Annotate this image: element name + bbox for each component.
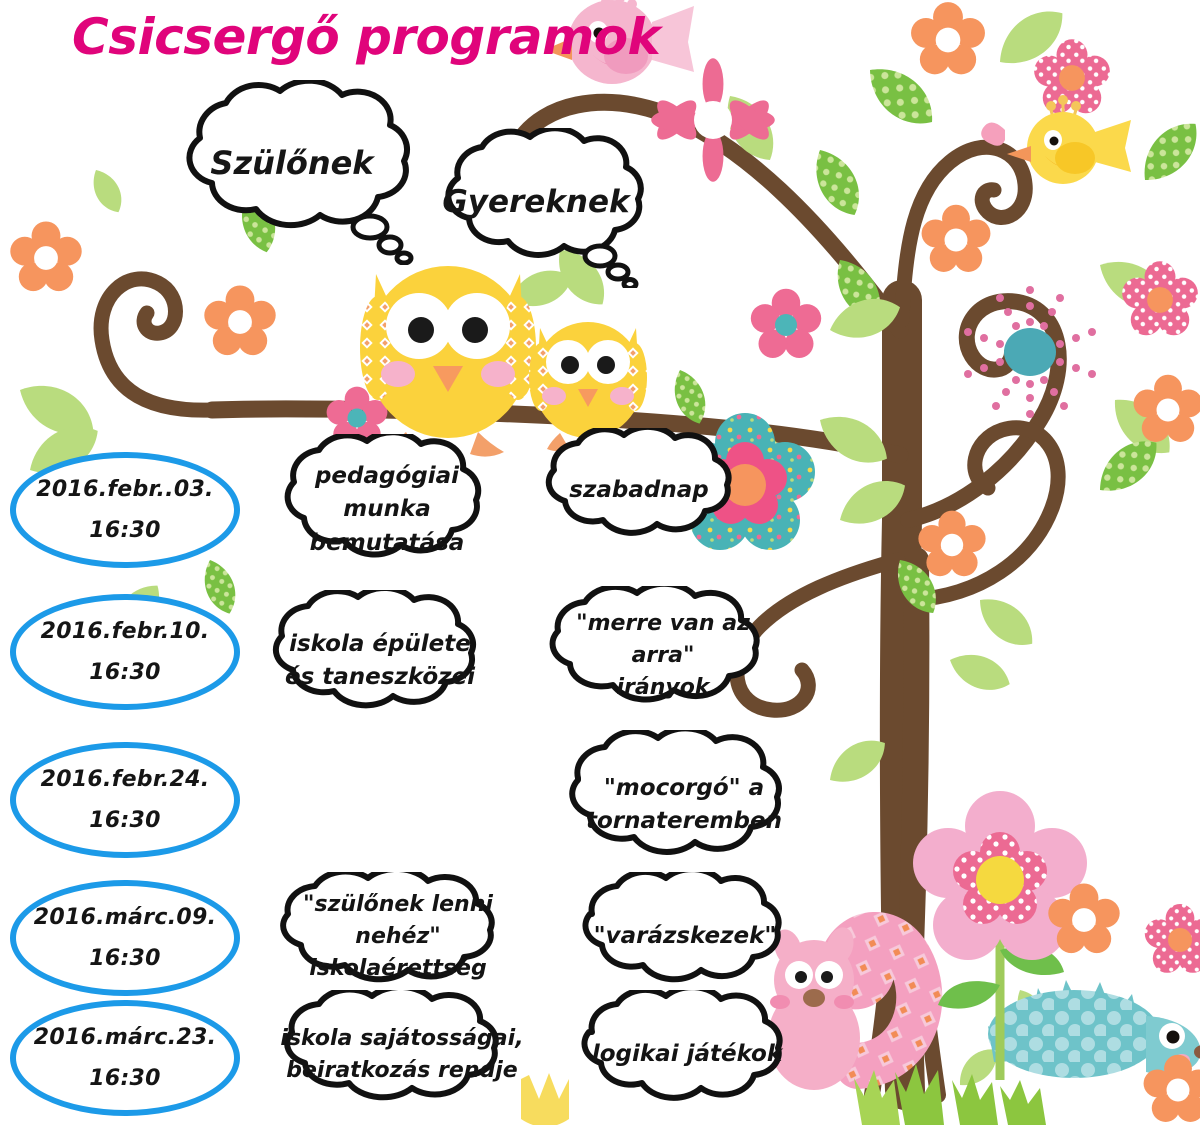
date-value: 2016.febr.10.: [41, 619, 210, 644]
time-value: 16:30: [89, 518, 161, 543]
date-value: 2016.febr..03.: [36, 477, 213, 502]
date-oval-2: 2016.febr.10. 16:30: [10, 594, 240, 710]
topic-cloud-child-2: "merre van az arra" irányok: [520, 586, 806, 726]
time-value: 16:30: [89, 808, 161, 833]
topic-label: "merre van az arra" irányok: [546, 608, 780, 704]
topic-label: iskola épülete és taneszközei: [285, 628, 475, 695]
topic-label: szabadnap: [569, 474, 708, 507]
column-header-child-label: Gyereknek: [418, 184, 654, 222]
topic-label: "szülőnek lenni nehéz" iskolaérettség: [274, 889, 522, 985]
topic-label: "varázskezek": [594, 920, 777, 953]
topic-cloud-parent-3: "szülőnek lenni nehéz" iskolaérettség: [248, 872, 548, 1002]
hedgehog-icon: [988, 980, 1200, 1078]
topic-label: pedagógiai munka bemutatása: [282, 460, 492, 560]
time-value: 16:30: [89, 946, 161, 971]
time-value: 16:30: [89, 660, 161, 685]
column-header-child: Gyereknek: [418, 128, 654, 288]
topic-cloud-parent-4: iskola sajátosságai, beiratkozás rendje: [252, 990, 552, 1120]
time-value: 16:30: [89, 1066, 161, 1091]
topic-cloud-parent-2: iskola épülete és taneszközei: [244, 590, 516, 732]
topic-cloud-parent-1: pedagógiai munka bemutatása: [256, 434, 518, 586]
topic-cloud-child-1: szabadnap: [520, 428, 758, 554]
date-oval-3: 2016.febr.24. 16:30: [10, 742, 240, 858]
date-value: 2016.márc.23.: [34, 1025, 216, 1050]
date-oval-5: 2016.márc.23. 16:30: [10, 1000, 240, 1116]
topic-cloud-child-3: "mocorgó" a tornateremben: [540, 730, 828, 880]
page-title: Csicsergő programok: [72, 8, 660, 66]
date-value: 2016.márc.09.: [34, 905, 216, 930]
column-header-parent-label: Szülőnek: [152, 144, 432, 183]
poster-canvas: Csicsergő programok Szülőnek G: [0, 0, 1200, 1125]
topic-label: "mocorgó" a tornateremben: [586, 772, 782, 839]
topic-cloud-child-5: logikai játékok: [556, 990, 818, 1120]
topic-label: iskola sajátosságai, beiratkozás rendje: [280, 1023, 523, 1087]
bird-yellow-icon: [981, 95, 1131, 184]
topic-label: logikai játékok: [592, 1038, 782, 1071]
date-oval-1: 2016.febr..03. 16:30: [10, 452, 240, 568]
column-header-parent: Szülőnek: [152, 80, 432, 265]
owl-large-icon: [360, 266, 536, 458]
date-value: 2016.febr.24.: [41, 767, 210, 792]
flower-icon: [913, 791, 1087, 1080]
date-oval-4: 2016.márc.09. 16:30: [10, 880, 240, 996]
topic-cloud-child-4: "varázskezek": [556, 872, 814, 1002]
